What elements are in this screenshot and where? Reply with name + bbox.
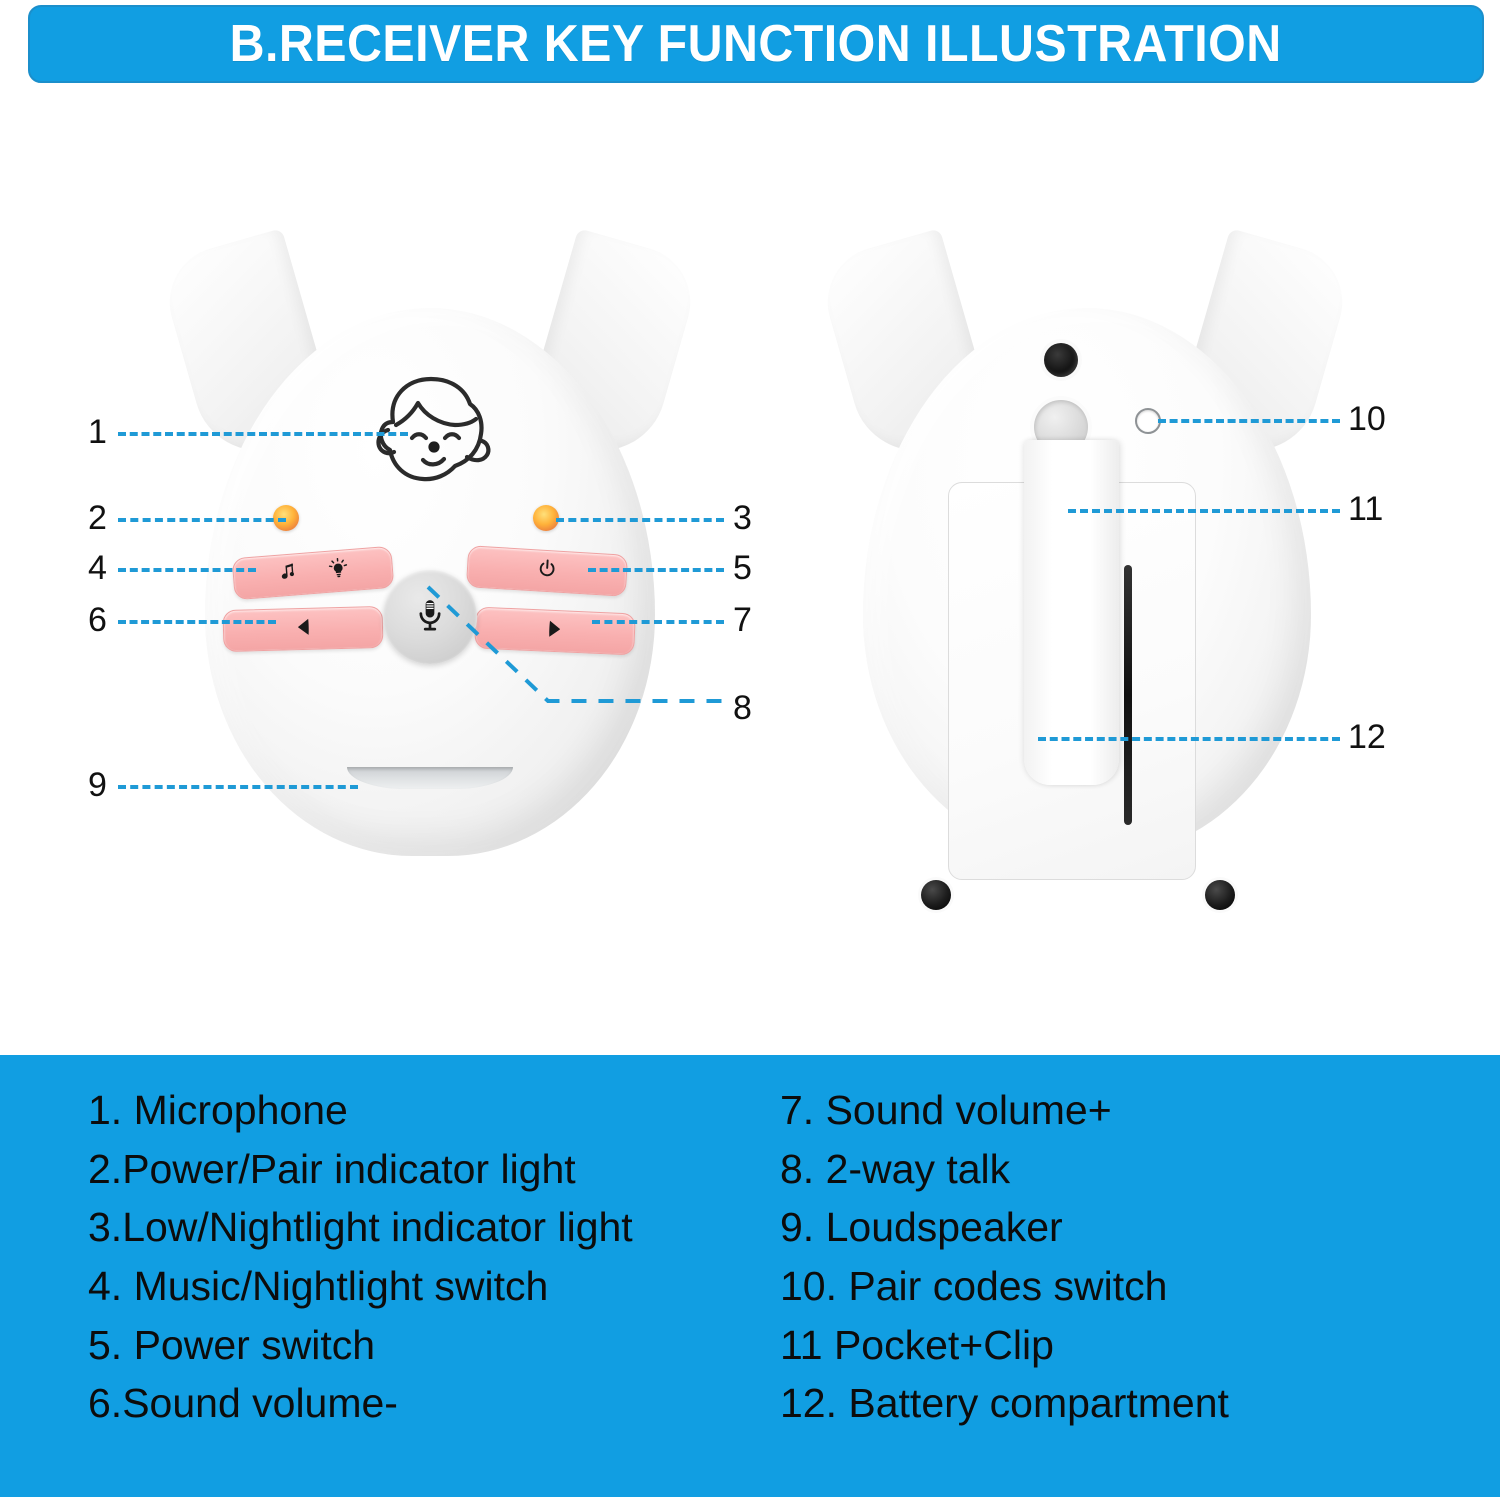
- callout-number-6: 6: [88, 603, 107, 637]
- legend-columns: 1. Microphone 2.Power/Pair indicator lig…: [0, 1081, 1500, 1433]
- leader-line-6: [118, 620, 276, 624]
- leader-line-8: [420, 581, 730, 721]
- callout-number-12: 12: [1348, 720, 1386, 754]
- leader-line-4: [118, 568, 256, 572]
- legend-item-1: 1. Microphone: [88, 1081, 760, 1140]
- leader-line-2: [118, 518, 286, 522]
- illustration-page: B.RECEIVER KEY FUNCTION ILLUSTRATION: [0, 0, 1500, 1497]
- legend-item-9: 9. Loudspeaker: [780, 1198, 1500, 1257]
- volume-down-button[interactable]: [222, 606, 383, 652]
- legend-panel: 1. Microphone 2.Power/Pair indicator lig…: [0, 1055, 1500, 1497]
- callout-number-8: 8: [733, 691, 752, 725]
- callout-number-2: 2: [88, 501, 107, 535]
- callout-number-9: 9: [88, 768, 107, 802]
- baby-face-icon: [355, 362, 505, 492]
- illustration-stage: 1 2 3 4 5 6 7 8 9 10 11: [0, 95, 1500, 1050]
- page-title: B.RECEIVER KEY FUNCTION ILLUSTRATION: [230, 14, 1282, 74]
- leader-line-1: [118, 432, 408, 436]
- callout-number-11: 11: [1348, 492, 1383, 526]
- legend-item-6: 6.Sound volume-: [88, 1374, 760, 1433]
- legend-item-10: 10. Pair codes switch: [780, 1257, 1500, 1316]
- arrow-left-icon: [290, 613, 317, 645]
- legend-item-12: 12. Battery compartment: [780, 1374, 1500, 1433]
- legend-item-11: 11 Pocket+Clip: [780, 1316, 1500, 1375]
- screw-left: [921, 880, 951, 910]
- lightbulb-icon: [327, 557, 350, 585]
- leader-line-12: [1038, 737, 1340, 741]
- callout-number-3: 3: [733, 501, 752, 535]
- legend-item-2: 2.Power/Pair indicator light: [88, 1140, 760, 1199]
- leader-line-5: [588, 568, 724, 572]
- front-view-device: [175, 240, 685, 860]
- music-note-icon: [276, 561, 299, 589]
- legend-item-8: 8. 2-way talk: [780, 1140, 1500, 1199]
- legend-item-3: 3.Low/Nightlight indicator light: [88, 1198, 760, 1257]
- leader-line-10: [1158, 419, 1340, 423]
- callout-number-7: 7: [733, 603, 752, 637]
- back-view-device: [835, 240, 1335, 860]
- callout-number-10: 10: [1348, 402, 1386, 436]
- leader-line-9: [118, 785, 358, 789]
- screw-right: [1205, 880, 1235, 910]
- legend-item-5: 5. Power switch: [88, 1316, 760, 1375]
- callout-number-5: 5: [733, 551, 752, 585]
- belt-clip[interactable]: [1024, 440, 1119, 785]
- battery-door-slot: [1124, 565, 1132, 825]
- legend-column-left: 1. Microphone 2.Power/Pair indicator lig…: [0, 1081, 760, 1433]
- header-banner: B.RECEIVER KEY FUNCTION ILLUSTRATION: [28, 5, 1484, 83]
- legend-item-4: 4. Music/Nightlight switch: [88, 1257, 760, 1316]
- leader-line-11: [1068, 509, 1340, 513]
- callout-number-1: 1: [88, 415, 107, 449]
- legend-column-right: 7. Sound volume+ 8. 2-way talk 9. Loudsp…: [760, 1081, 1500, 1433]
- charging-port: [1044, 343, 1078, 377]
- legend-item-7: 7. Sound volume+: [780, 1081, 1500, 1140]
- leader-line-3: [556, 518, 724, 522]
- callout-number-4: 4: [88, 551, 107, 585]
